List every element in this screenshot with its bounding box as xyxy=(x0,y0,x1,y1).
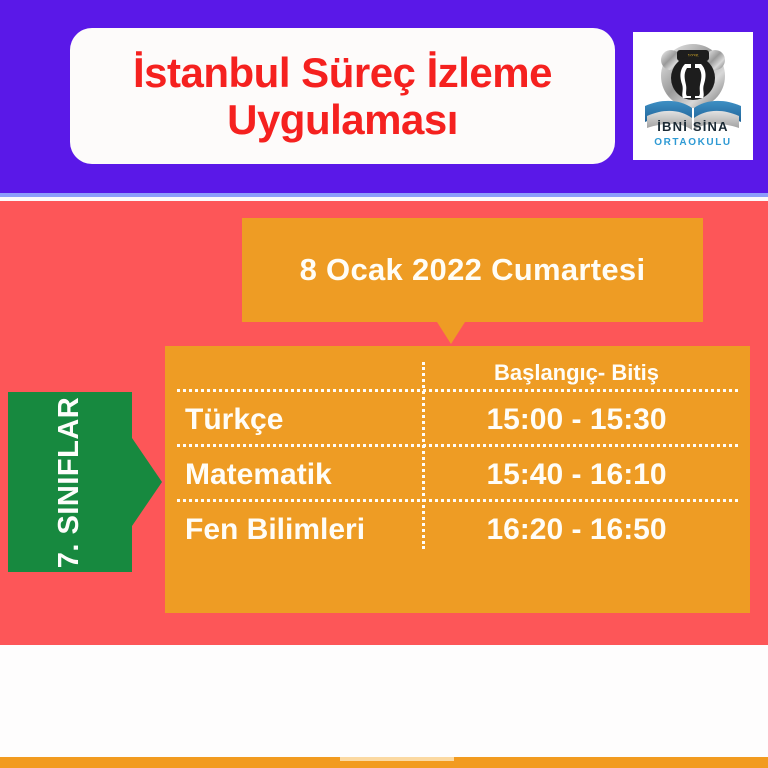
schedule-panel: Başlangıç- Bitiş Türkçe 15:00 - 15:30 Ma… xyxy=(165,346,750,613)
cell-subject: Fen Bilimleri xyxy=(177,513,415,547)
date-banner: 8 Ocak 2022 Cumartesi xyxy=(242,218,703,322)
cell-time: 15:40 - 16:10 xyxy=(415,458,738,492)
grade-tag-label: 7. SINIFLAR xyxy=(54,396,87,567)
grade-tag-arrow-icon xyxy=(132,438,162,526)
poster-canvas: İstanbul Süreç İzleme Uygulaması xyxy=(0,0,768,768)
school-logo: 1936 İBNİ SİNA ORTAOKULU xyxy=(633,32,753,160)
table-row: Fen Bilimleri 16:20 - 16:50 xyxy=(177,502,738,557)
footer-accent-strip-highlight xyxy=(340,757,454,761)
schedule-table: Başlangıç- Bitiş Türkçe 15:00 - 15:30 Ma… xyxy=(177,354,738,557)
school-logo-name: İBNİ SİNA xyxy=(633,119,753,134)
grade-tag-label-wrap: 7. SINIFLAR xyxy=(8,392,132,572)
page-title-line-1: İstanbul Süreç İzleme xyxy=(133,49,552,96)
cell-time: 16:20 - 16:50 xyxy=(415,513,738,547)
title-card: İstanbul Süreç İzleme Uygulaması xyxy=(70,28,615,164)
date-banner-pointer-icon xyxy=(437,322,465,344)
cell-subject: Türkçe xyxy=(177,403,415,437)
cell-subject: Matematik xyxy=(177,458,415,492)
school-logo-subtitle: ORTAOKULU xyxy=(633,137,753,148)
footer: İSTANBUL İL MİLLÎ EĞİTİM MÜDÜRLÜĞÜ eba xyxy=(0,645,768,768)
table-header-row: Başlangıç- Bitiş xyxy=(177,354,738,392)
page-title-line-2: Uygulaması xyxy=(133,96,552,143)
page-title: İstanbul Süreç İzleme Uygulaması xyxy=(119,49,566,143)
header-cell-time: Başlangıç- Bitiş xyxy=(415,360,738,386)
date-banner-text: 8 Ocak 2022 Cumartesi xyxy=(300,252,646,288)
cell-time: 15:00 - 15:30 xyxy=(415,403,738,437)
table-row: Matematik 15:40 - 16:10 xyxy=(177,447,738,502)
table-row: Türkçe 15:00 - 15:30 xyxy=(177,392,738,447)
